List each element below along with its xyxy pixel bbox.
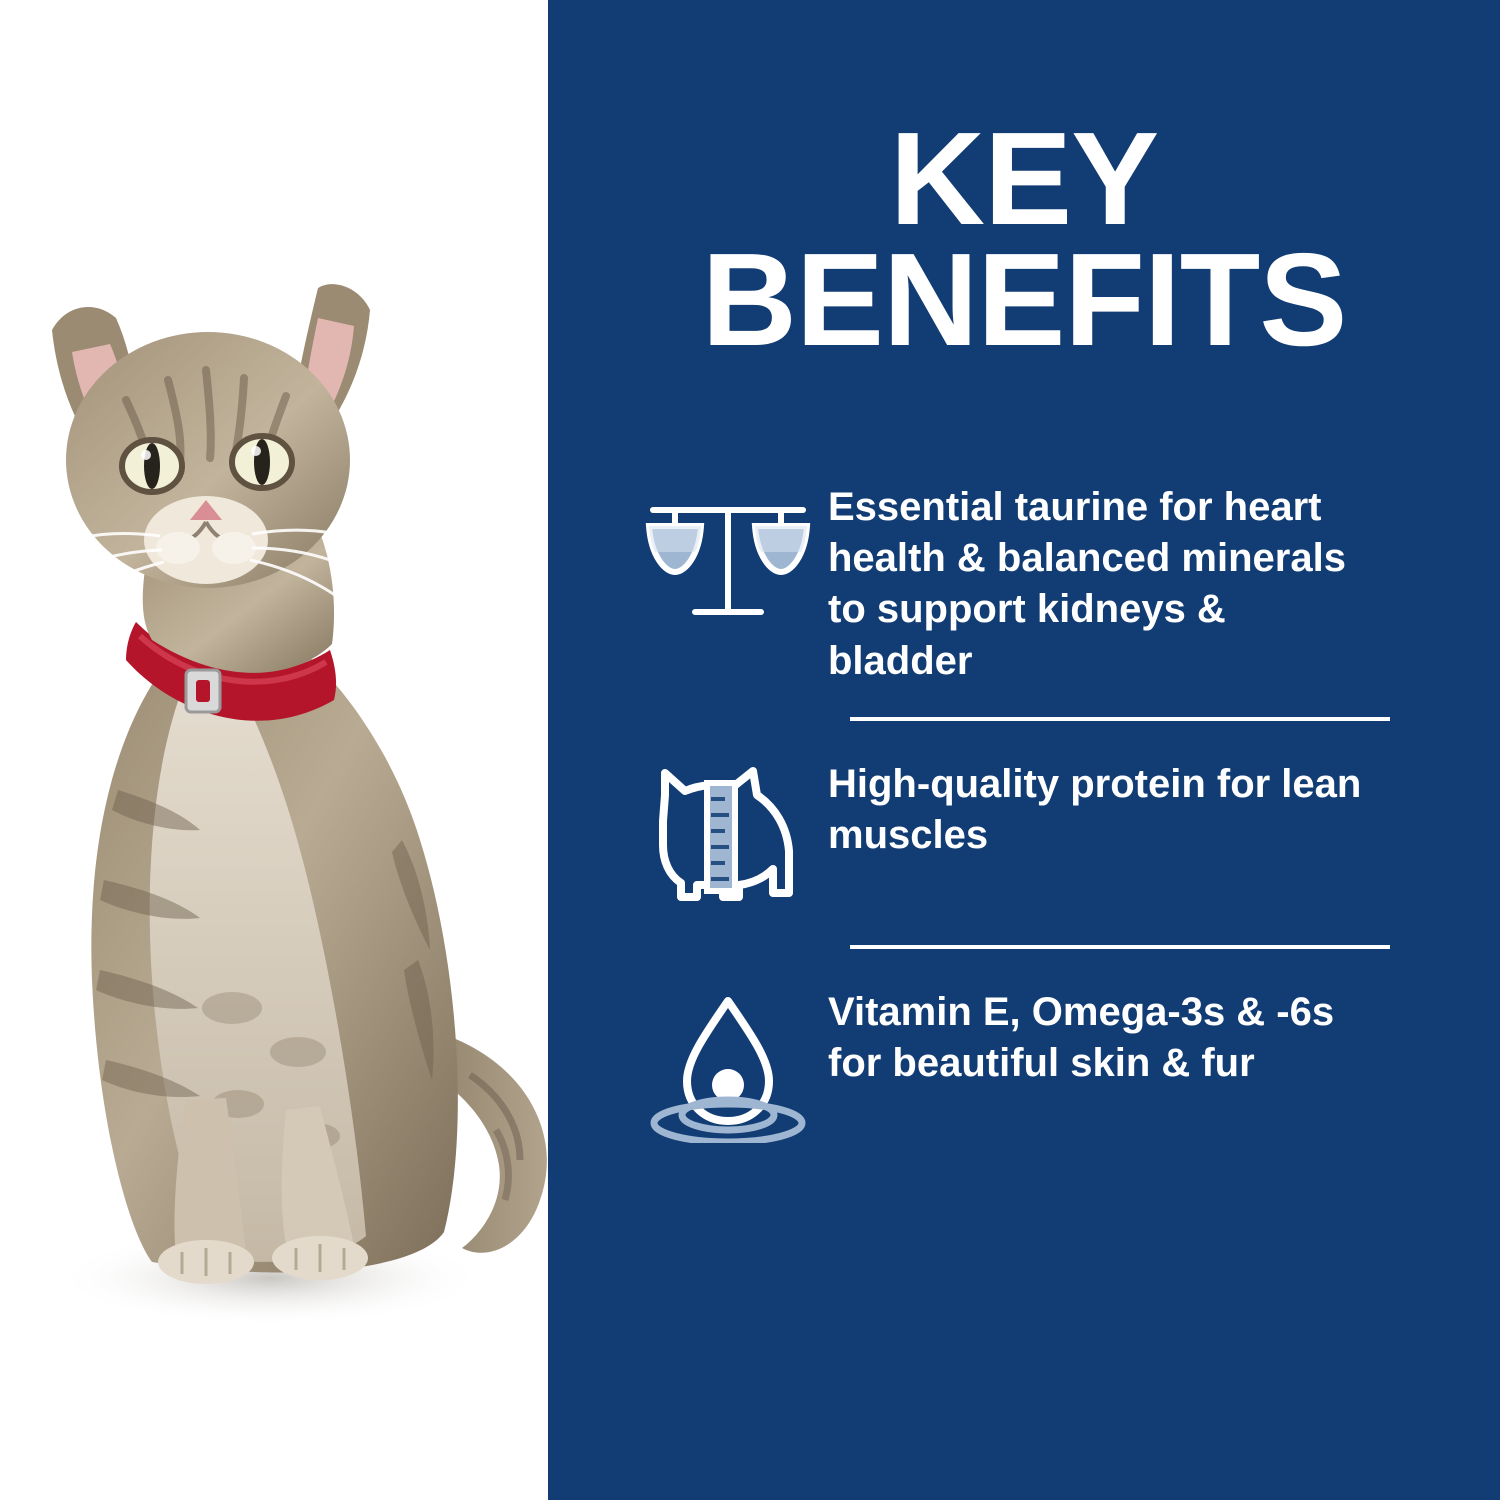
benefit-divider-2 (850, 945, 1390, 949)
headline-line-2: BENEFITS (548, 239, 1500, 360)
benefit-text-protein: High-quality protein for lean muscles (828, 757, 1368, 861)
benefit-text-skin-fur: Vitamin E, Omega-3s & -6s for beautiful … (828, 985, 1368, 1089)
benefit-text-taurine: Essential taurine for heart health & bal… (828, 480, 1368, 687)
benefit-list: Essential taurine for heart health & bal… (628, 480, 1468, 1143)
cat-measuring-tape-icon (628, 757, 828, 915)
benefit-item-skin-fur: Vitamin E, Omega-3s & -6s for beautiful … (628, 985, 1468, 1143)
water-droplet-ripple-icon (628, 985, 828, 1143)
balance-scale-icon (628, 480, 828, 628)
benefit-divider-1 (850, 717, 1390, 721)
page-title: KEY BENEFITS (548, 118, 1500, 361)
benefits-pane: KEY BENEFITS (548, 0, 1500, 1500)
benefit-item-protein: High-quality protein for lean muscles (628, 757, 1468, 915)
cat-photo (0, 0, 548, 1500)
benefit-item-taurine: Essential taurine for heart health & bal… (628, 480, 1468, 687)
product-photo-pane (0, 0, 548, 1500)
headline-line-1: KEY (548, 118, 1500, 239)
key-benefits-panel: KEY BENEFITS (0, 0, 1500, 1500)
